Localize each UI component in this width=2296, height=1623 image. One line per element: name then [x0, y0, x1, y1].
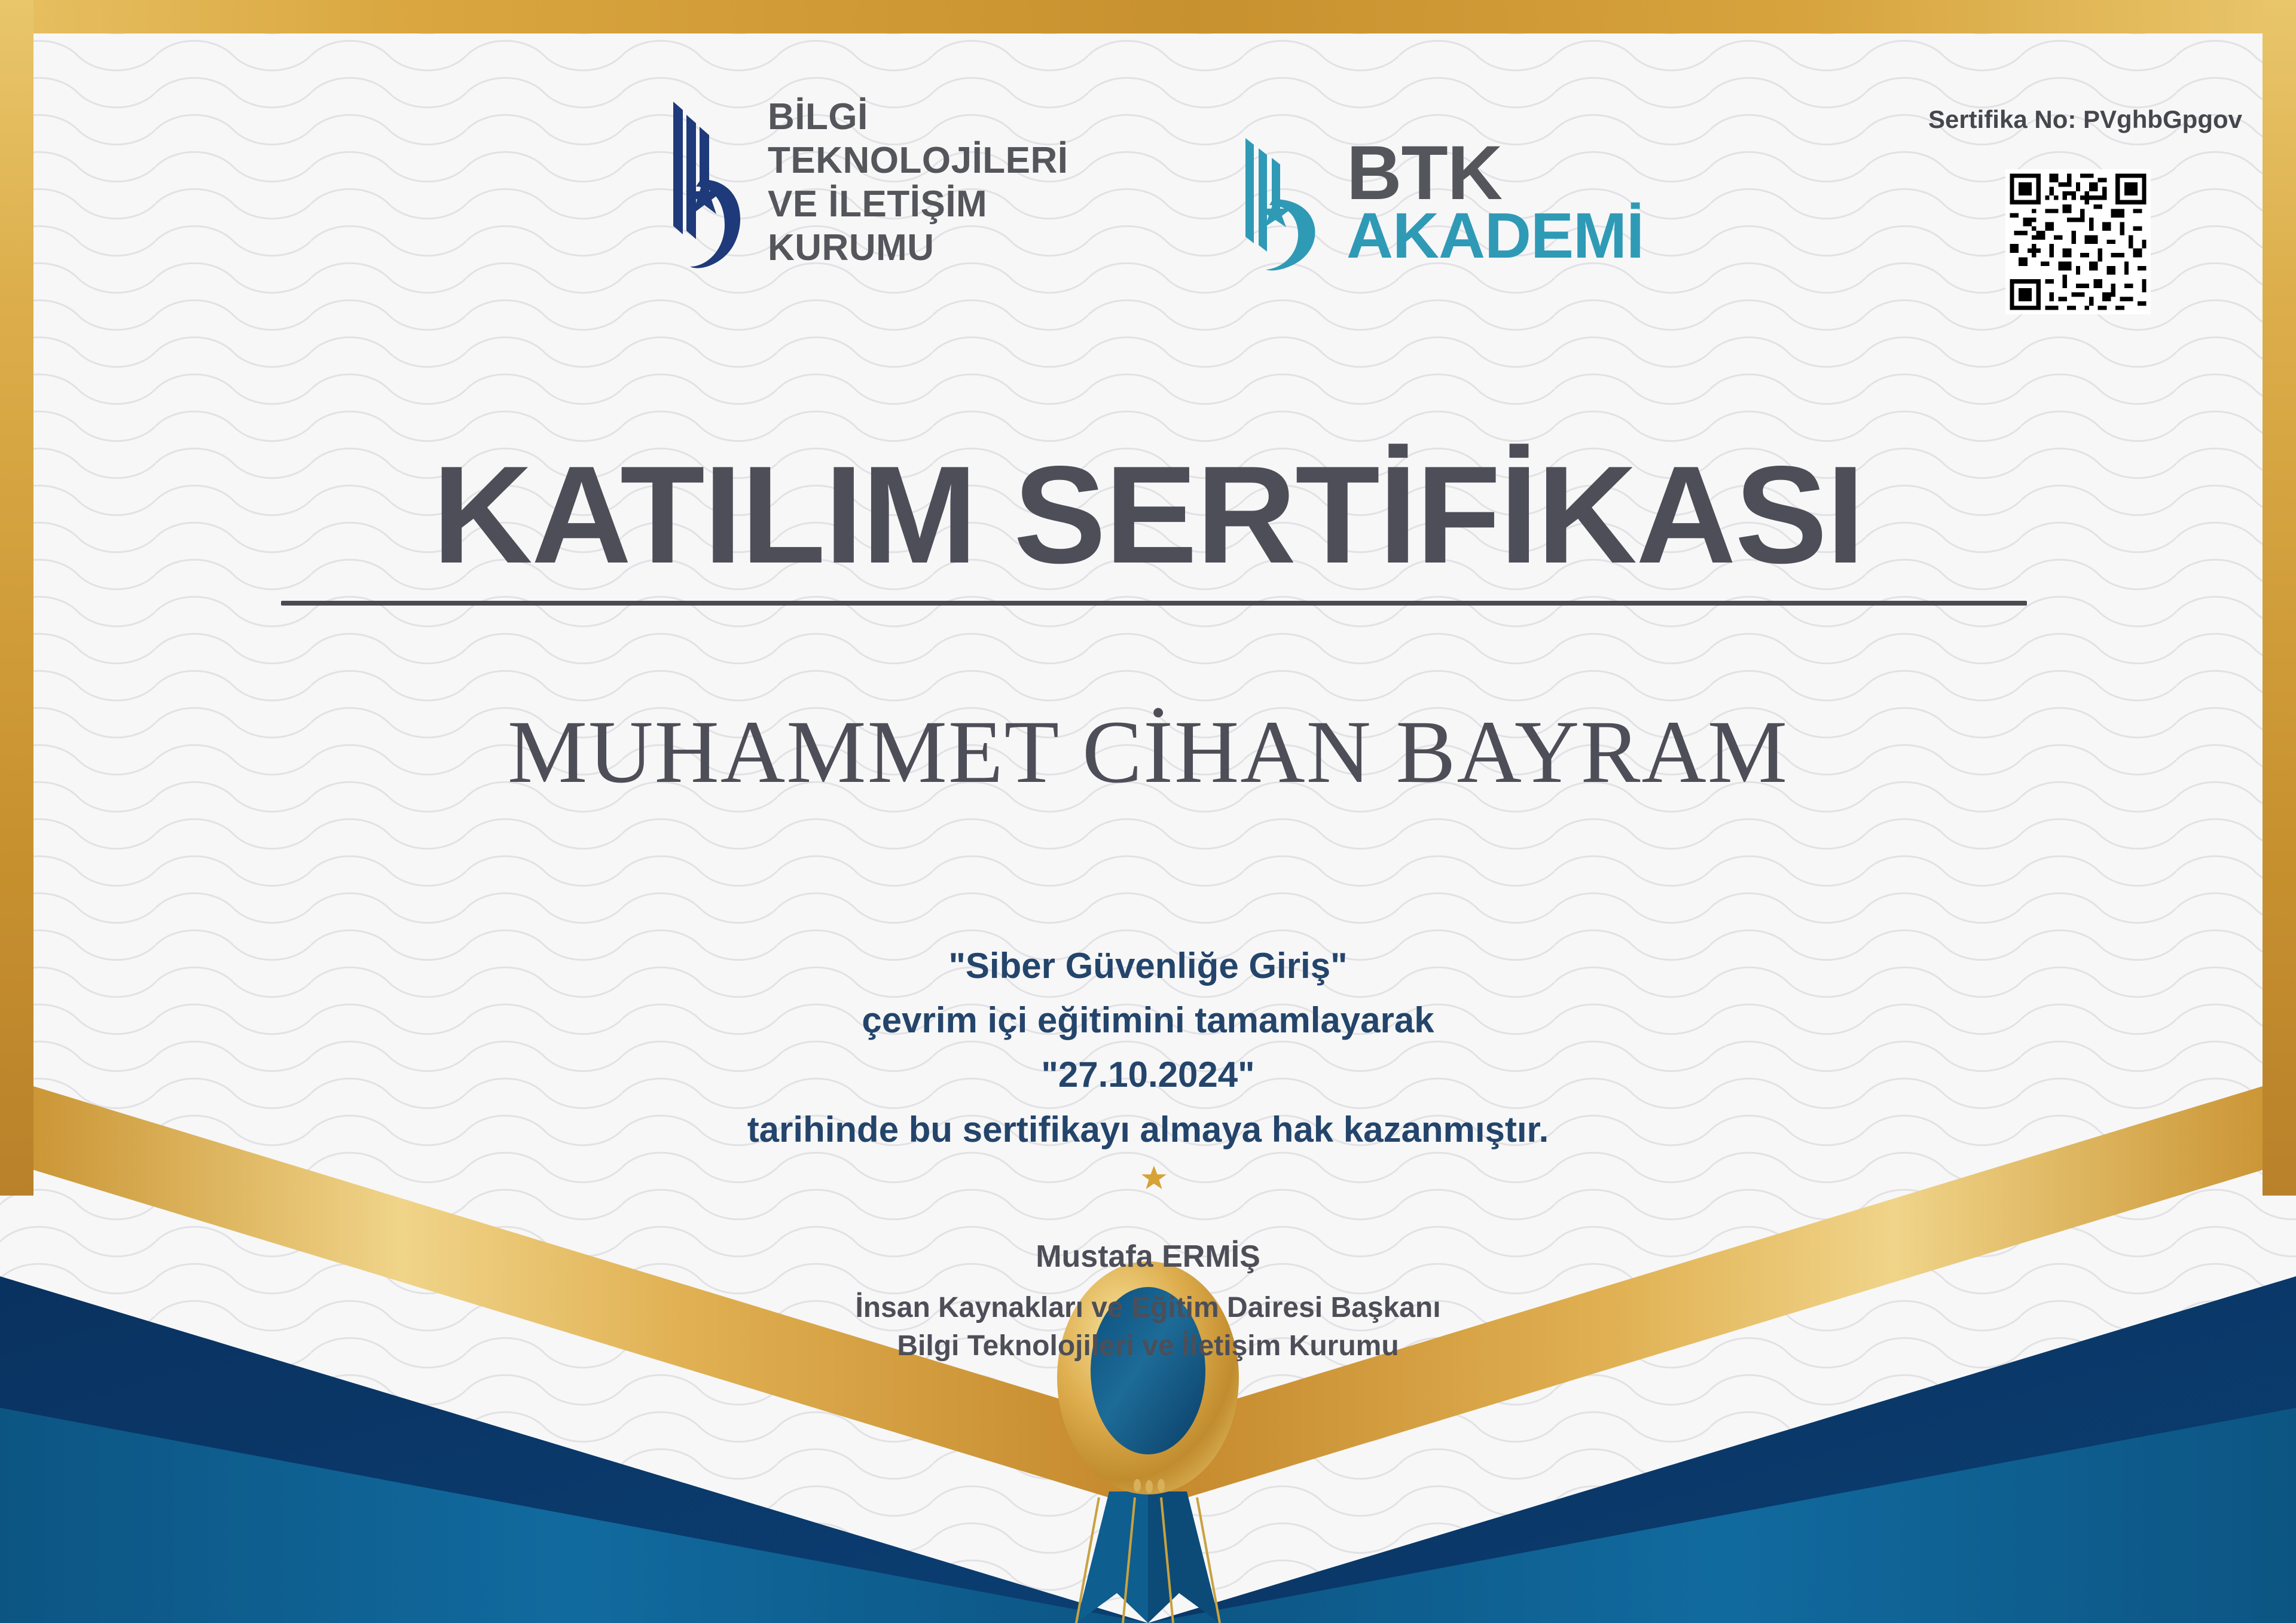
certificate-number: Sertifika No: PVghbGpgov: [1928, 105, 2242, 134]
institution-logo: BİLGİ TEKNOLOJİLERİ VE İLETİŞİM KURUMU: [670, 90, 1068, 275]
signature-block: Mustafa ERMİŞ İnsan Kaynakları ve Eğitim…: [0, 1239, 2296, 1366]
signatory-organization: Bilgi Teknolojileri ve İletişim Kurumu: [0, 1327, 2296, 1365]
academy-logo-text: BTK AKADEMİ: [1347, 140, 1644, 264]
entitlement-line: tarihinde bu sertifikayı almaya hak kaza…: [0, 1102, 2296, 1157]
qr-code[interactable]: [2005, 169, 2151, 314]
institution-logo-line2: TEKNOLOJİLERİ: [768, 139, 1068, 182]
btk-crescent-star-icon: [670, 90, 747, 275]
completion-line: çevrim içi eğitimini tamamlayarak: [0, 993, 2296, 1047]
completion-date: "27.10.2024": [0, 1047, 2296, 1102]
signatory-name: Mustafa ERMİŞ: [0, 1239, 2296, 1274]
btk-akademi-crescent-star-icon: [1241, 129, 1333, 275]
certificate-body: "Siber Güvenliğe Giriş" çevrim içi eğiti…: [0, 939, 2296, 1157]
institution-logo-text: BİLGİ TEKNOLOJİLERİ VE İLETİŞİM KURUMU: [768, 95, 1068, 270]
institution-logo-line4: KURUMU: [768, 226, 1068, 270]
institution-logo-line3: VE İLETİŞİM: [768, 182, 1068, 226]
title-divider: [281, 601, 2027, 606]
institution-logo-line1: BİLGİ: [768, 95, 1068, 139]
recipient-name: MUHAMMET CİHAN BAYRAM: [0, 701, 2296, 803]
signatory-title: İnsan Kaynakları ve Eğitim Dairesi Başka…: [0, 1289, 2296, 1327]
academy-logo-line1: BTK: [1347, 140, 1644, 207]
page-title: KATILIM SERTİFİKASI: [0, 435, 2296, 595]
certificate: BİLGİ TEKNOLOJİLERİ VE İLETİŞİM KURUMU B…: [0, 0, 2296, 1623]
academy-logo-line2: AKADEMİ: [1347, 207, 1644, 264]
gold-star-icon: [1141, 1164, 1167, 1191]
academy-logo: BTK AKADEMİ: [1241, 129, 1644, 275]
course-title: "Siber Güvenliğe Giriş": [0, 939, 2296, 993]
